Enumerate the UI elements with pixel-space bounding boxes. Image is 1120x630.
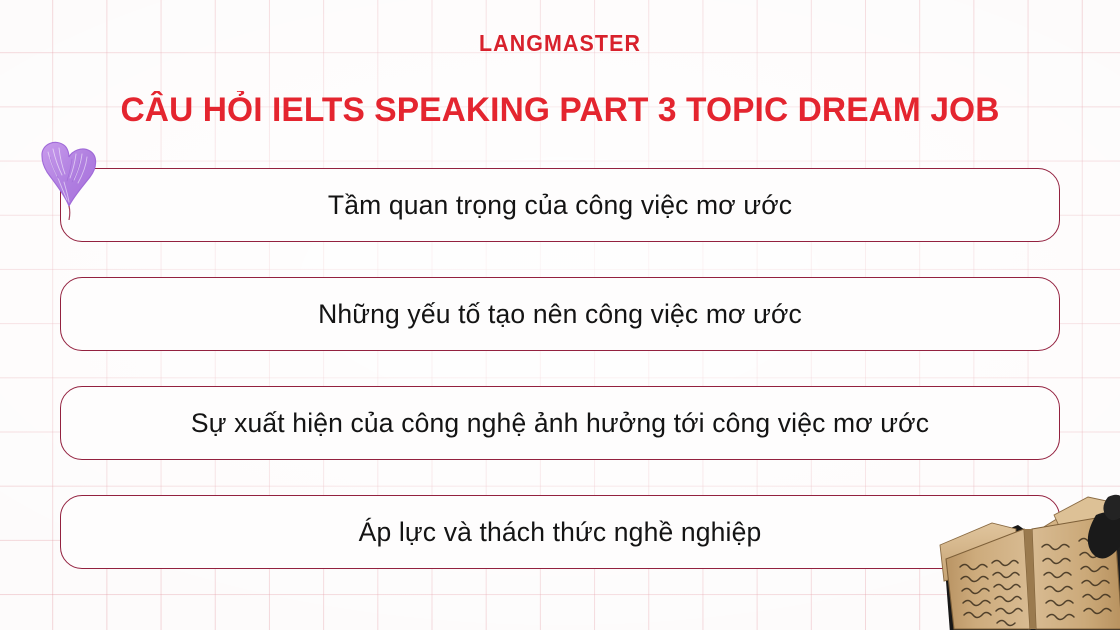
langmaster-logo: LANGMASTER <box>39 30 1081 57</box>
topic-card-3[interactable]: Sự xuất hiện của công nghệ ảnh hưởng tới… <box>60 386 1060 460</box>
page-title: CÂU HỎI IELTS SPEAKING PART 3 TOPIC DREA… <box>8 90 1111 130</box>
topic-card-1[interactable]: Tầm quan trọng của công việc mơ ước <box>60 168 1060 242</box>
topic-card-label: Áp lực và thách thức nghề nghiệp <box>359 517 762 547</box>
topic-card-2[interactable]: Những yếu tố tạo nên công việc mơ ước <box>60 277 1060 351</box>
topic-card-label: Tầm quan trọng của công việc mơ ước <box>328 190 792 220</box>
topic-card-label: Những yếu tố tạo nên công việc mơ ước <box>318 299 802 329</box>
poster-canvas: LANGMASTER CÂU HỎI IELTS SPEAKING PART 3… <box>0 0 1120 630</box>
topic-card-4[interactable]: Áp lực và thách thức nghề nghiệp <box>60 495 1060 569</box>
question-topic-list: Tầm quan trọng của công việc mơ ước Nhữn… <box>60 168 1060 569</box>
topic-card-label: Sự xuất hiện của công nghệ ảnh hưởng tới… <box>191 408 929 438</box>
